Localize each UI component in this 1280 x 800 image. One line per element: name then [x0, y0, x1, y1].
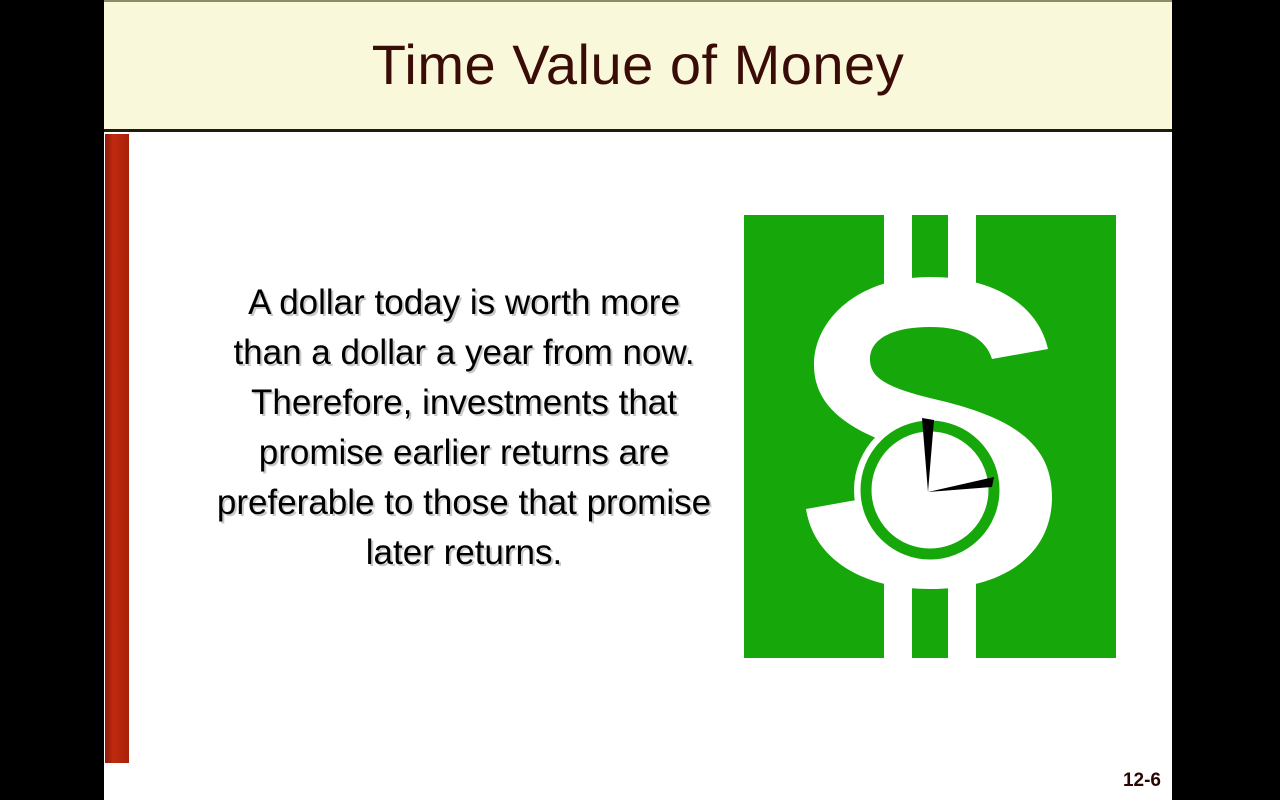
slide-title-band: Time Value of Money — [104, 0, 1172, 132]
presentation-slide: Time Value of Money A dollar today is wo… — [0, 0, 1280, 800]
slide-page-number: 12-6 — [1123, 770, 1161, 792]
dollar-clock-graphic — [744, 215, 1116, 658]
dollar-sign-with-clock-icon — [744, 215, 1116, 658]
page-title: Time Value of Money — [104, 2, 1172, 129]
slide-body-text: A dollar today is worth more than a doll… — [214, 278, 714, 578]
left-accent-bar — [105, 134, 129, 763]
clock-face — [854, 414, 1006, 566]
slide-canvas: Time Value of Money A dollar today is wo… — [104, 0, 1172, 800]
